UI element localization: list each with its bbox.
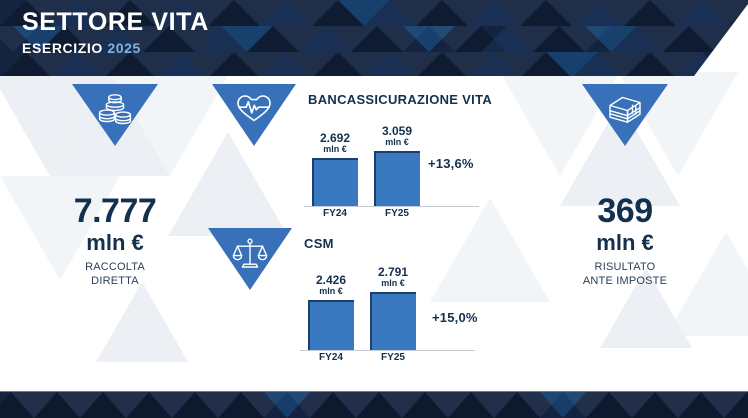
tick-label-fy24: FY24 [312, 208, 358, 219]
footer-banner [0, 391, 748, 418]
header-subtitle-year: 2025 [107, 40, 141, 56]
chart-bancassicurazione-vita: BANCASSICURAZIONE VITA 2.692 mln € 3.059… [212, 84, 512, 224]
kpi-raccolta-diretta: 7.777 mln € RACCOLTA DIRETTA [30, 84, 200, 289]
kpi-right-caption-line2: ANTE IMPOSTE [583, 275, 667, 287]
chart-title-bancassicurazione: BANCASSICURAZIONE VITA [308, 92, 492, 107]
chart-baseline [300, 350, 475, 351]
bar-fy24-value: 2.426 [308, 274, 354, 287]
bar-fy25: 2.791 mln € [370, 266, 416, 350]
banknote-stack-icon-badge [582, 84, 668, 146]
bar-fy24-value: 2.692 [312, 132, 358, 145]
bar-fy25-value: 2.791 [370, 266, 416, 279]
bar-fy24: 2.426 mln € [308, 274, 354, 350]
coin-stack-icon [97, 93, 133, 125]
kpi-left-value: 7.777 [30, 194, 200, 228]
header-banner: SETTORE VITA ESERCIZIO 2025 [0, 0, 748, 76]
coin-stack-icon-badge [72, 84, 158, 146]
bg-triangle [96, 282, 188, 362]
header-subtitle: ESERCIZIO 2025 [22, 41, 209, 55]
bar-group-csm: 2.426 mln € 2.791 mln € [300, 254, 460, 350]
plot-area-csm: 2.426 mln € 2.791 mln € FY24 FY25 [300, 258, 510, 368]
axis-tick-labels: FY24 FY25 [304, 208, 464, 222]
chart-csm: CSM 2.426 mln € 2.791 mln € FY24 FY25 [208, 228, 508, 376]
heart-pulse-icon [235, 93, 273, 123]
heart-pulse-icon-badge [212, 84, 296, 146]
infographic-root: SETTORE VITA ESERCIZIO 2025 [0, 0, 748, 418]
kpi-risultato-ante-imposte: 369 mln € RISULTATO ANTE IMPOSTE [540, 84, 710, 289]
bar-fy25-unit: mln € [370, 279, 416, 289]
bar-fy24-rect [308, 300, 354, 350]
tick-label-fy25: FY25 [374, 208, 420, 219]
delta-badge-bancassicurazione: +13,6% [428, 156, 474, 171]
bar-fy24-rect [312, 158, 358, 206]
chart-baseline [304, 206, 479, 207]
balance-scales-icon-badge [208, 228, 292, 290]
kpi-right-value: 369 [540, 194, 710, 228]
bar-fy25-unit: mln € [374, 138, 420, 148]
bar-fy25-value: 3.059 [374, 125, 420, 138]
chart-title-csm: CSM [304, 236, 334, 251]
kpi-left-unit: mln € [30, 231, 200, 255]
bar-fy24-unit: mln € [312, 145, 358, 155]
bar-fy24: 2.692 mln € [312, 132, 358, 206]
page-title: SETTORE VITA [22, 10, 209, 35]
balance-scales-icon [232, 237, 268, 269]
kpi-right-caption: RISULTATO ANTE IMPOSTE [540, 261, 710, 289]
kpi-left-caption: RACCOLTA DIRETTA [30, 261, 200, 289]
header-text-group: SETTORE VITA ESERCIZIO 2025 [22, 10, 209, 55]
bar-fy24-unit: mln € [308, 287, 354, 297]
delta-badge-csm: +15,0% [432, 310, 478, 325]
bar-fy25-rect [370, 292, 416, 350]
bar-fy25-rect [374, 151, 420, 206]
kpi-right-caption-line1: RISULTATO [595, 261, 656, 273]
kpi-right-unit: mln € [540, 231, 710, 255]
kpi-left-caption-line1: RACCOLTA [85, 261, 145, 273]
kpi-left-caption-line2: DIRETTA [91, 275, 139, 287]
bar-fy25: 3.059 mln € [374, 125, 420, 206]
header-subtitle-prefix: ESERCIZIO [22, 40, 107, 56]
tick-label-fy25: FY25 [370, 352, 416, 363]
axis-tick-labels: FY24 FY25 [300, 352, 460, 366]
banknote-stack-icon [606, 93, 644, 125]
plot-area-bancassicurazione: 2.692 mln € 3.059 mln € FY24 FY25 [304, 114, 514, 224]
tick-label-fy24: FY24 [308, 352, 354, 363]
